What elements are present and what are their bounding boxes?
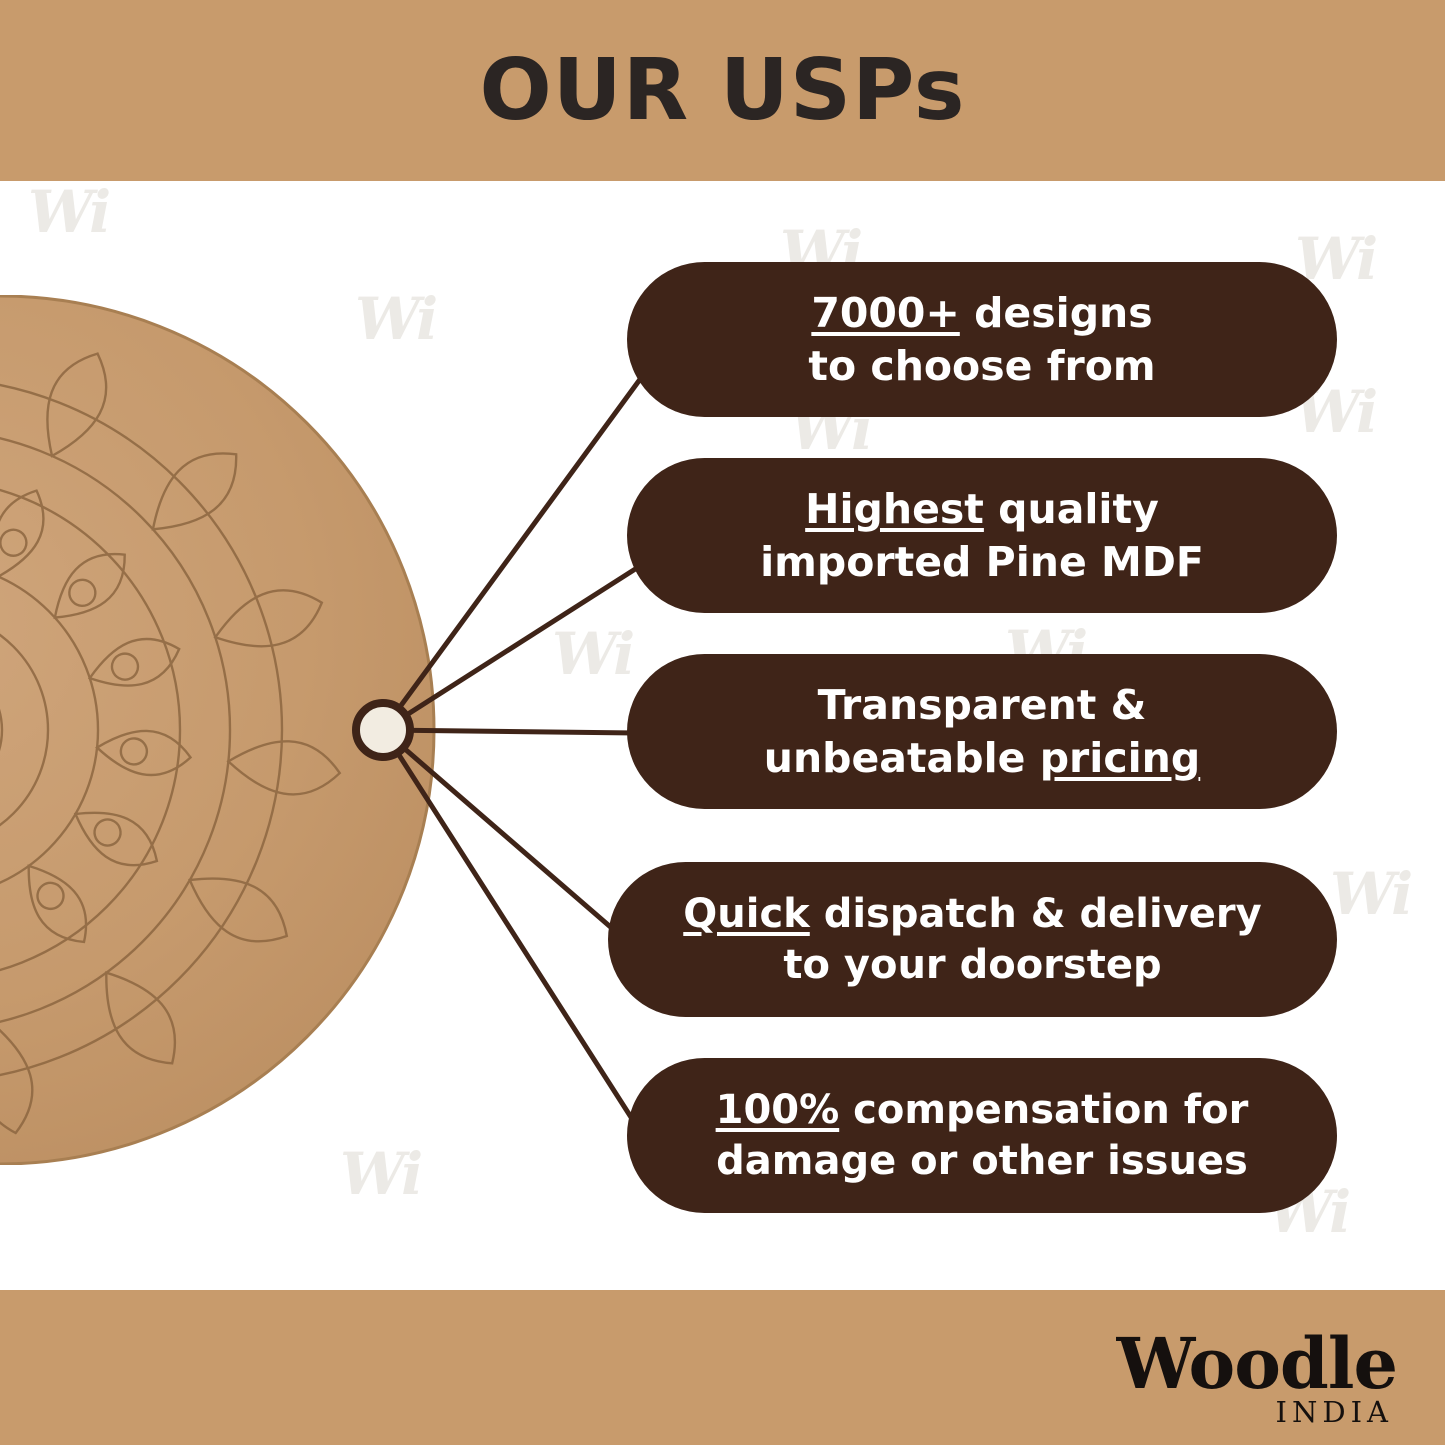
mandala-mdf-board	[0, 295, 440, 1165]
usp-item-2[interactable]: Highest quality imported Pine MDF	[627, 458, 1337, 613]
watermark: Wi	[28, 178, 108, 246]
usp-line-2: to choose from	[808, 340, 1155, 392]
brand-logo: Woodle INDIA	[1117, 1331, 1397, 1427]
footer-band: Woodle INDIA	[0, 1290, 1445, 1445]
usp-line-1: 100% compensation for	[716, 1085, 1249, 1136]
usp-item-5[interactable]: 100% compensation for damage or other is…	[627, 1058, 1337, 1213]
usp-line-2: unbeatable pricing	[764, 732, 1200, 784]
usp-item-3[interactable]: Transparent & unbeatable pricing	[627, 654, 1337, 809]
page-title: OUR USPs	[480, 48, 966, 133]
usp-item-4[interactable]: Quick dispatch & delivery to your doorst…	[608, 862, 1337, 1017]
watermark: Wi	[552, 620, 632, 688]
usp-line-2: imported Pine MDF	[760, 536, 1204, 588]
usp-line-1: 7000+ designs	[811, 287, 1152, 339]
brand-name: Woodle	[1117, 1331, 1397, 1398]
usp-line-1: Transparent &	[818, 679, 1147, 731]
header-band: OUR USPs	[0, 0, 1445, 181]
usp-line-1: Quick dispatch & delivery	[683, 889, 1261, 940]
usp-line-2: damage or other issues	[716, 1136, 1248, 1187]
usp-line-2: to your doorstep	[783, 940, 1161, 991]
watermark: Wi	[1330, 860, 1410, 928]
poster-canvas: Wi Wi Wi Wi Wi Wi Wi Wi Wi Wi Wi	[0, 0, 1445, 1445]
usp-line-1: Highest quality	[805, 483, 1159, 535]
usp-item-1[interactable]: 7000+ designs to choose from	[627, 262, 1337, 417]
